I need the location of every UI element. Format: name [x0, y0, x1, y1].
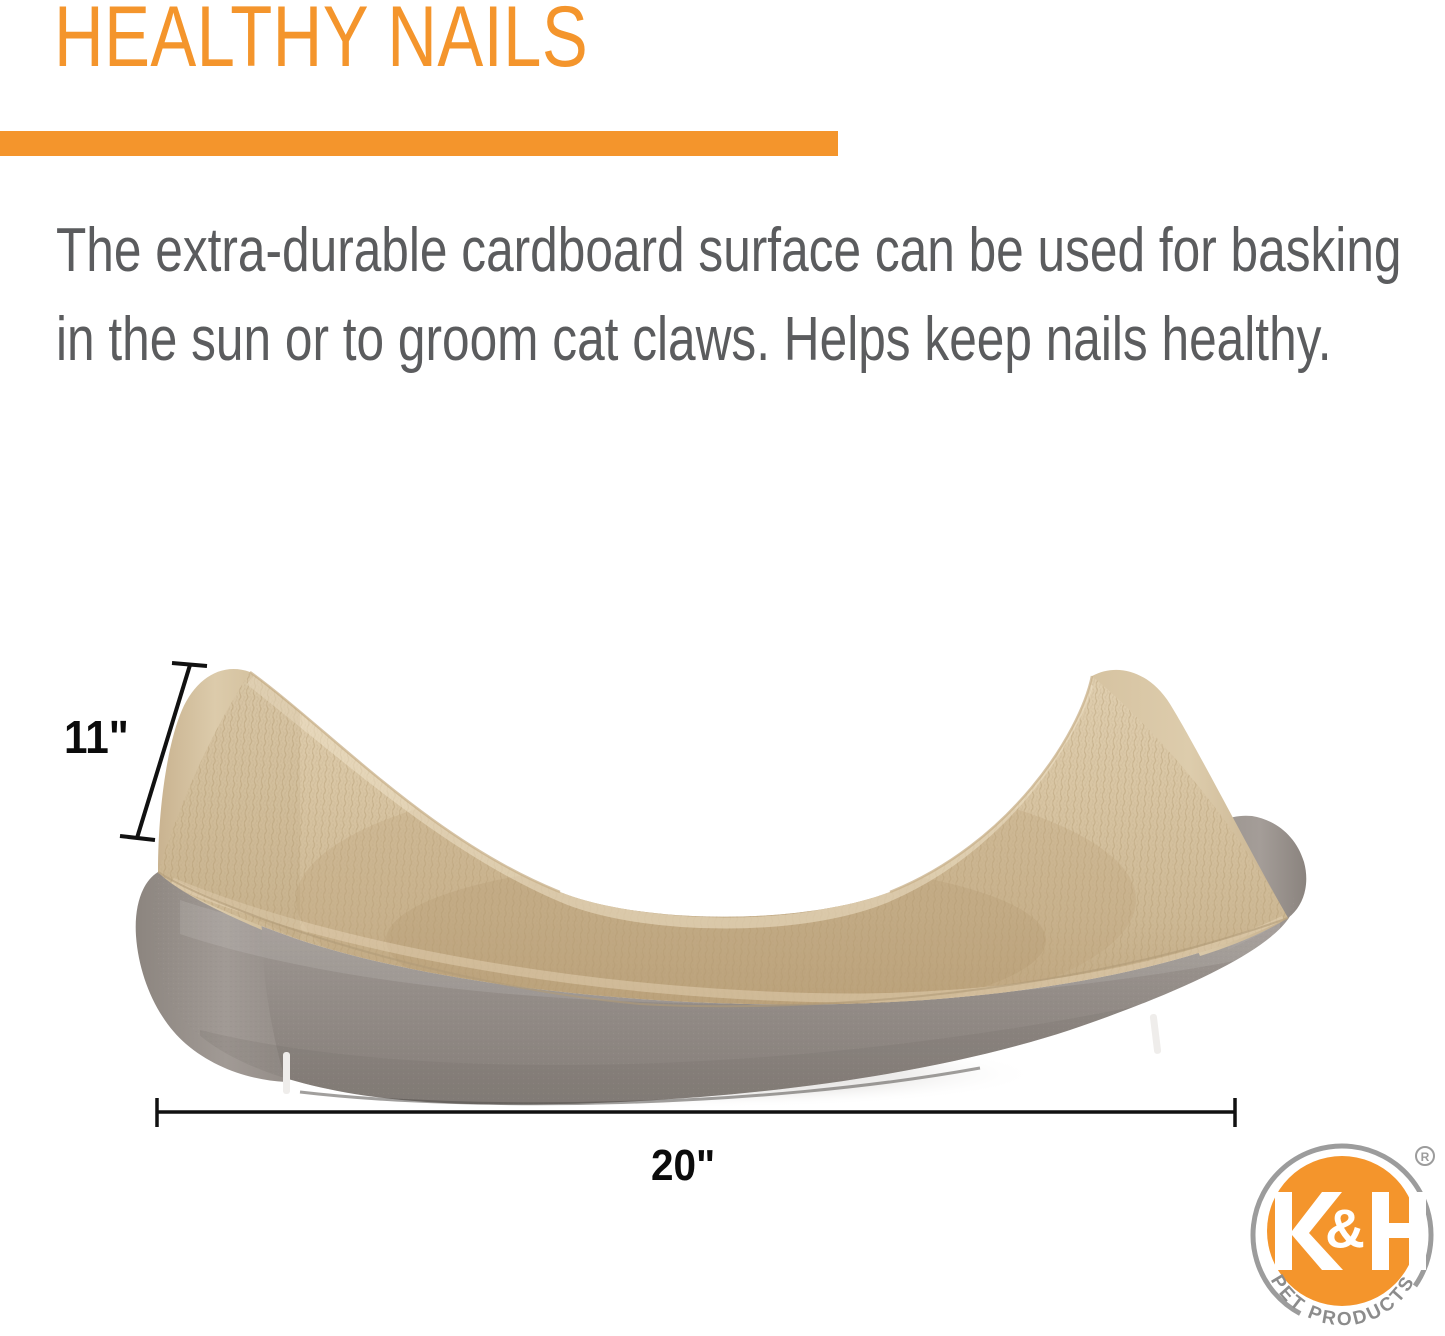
description-text: The extra-durable cardboard surface can … [56, 206, 1416, 384]
shell-notch-left [283, 1052, 290, 1094]
product-image [0, 600, 1445, 1120]
infographic-canvas: HEALTHY NAILS The extra-durable cardboar… [0, 0, 1445, 1336]
svg-text:R: R [1421, 1150, 1430, 1164]
page-title: HEALTHY NAILS [54, 0, 588, 80]
shell-notch-right [1150, 1014, 1162, 1055]
registered-trademark-icon: R [1416, 1147, 1434, 1165]
svg-text:&: & [1325, 1197, 1365, 1259]
width-dimension-label: 20" [651, 1141, 715, 1191]
kh-pet-products-logo: & R PET PRODUCTS [1246, 1134, 1442, 1334]
title-underline-bar [0, 131, 838, 156]
height-dimension-label: 11" [64, 710, 129, 764]
